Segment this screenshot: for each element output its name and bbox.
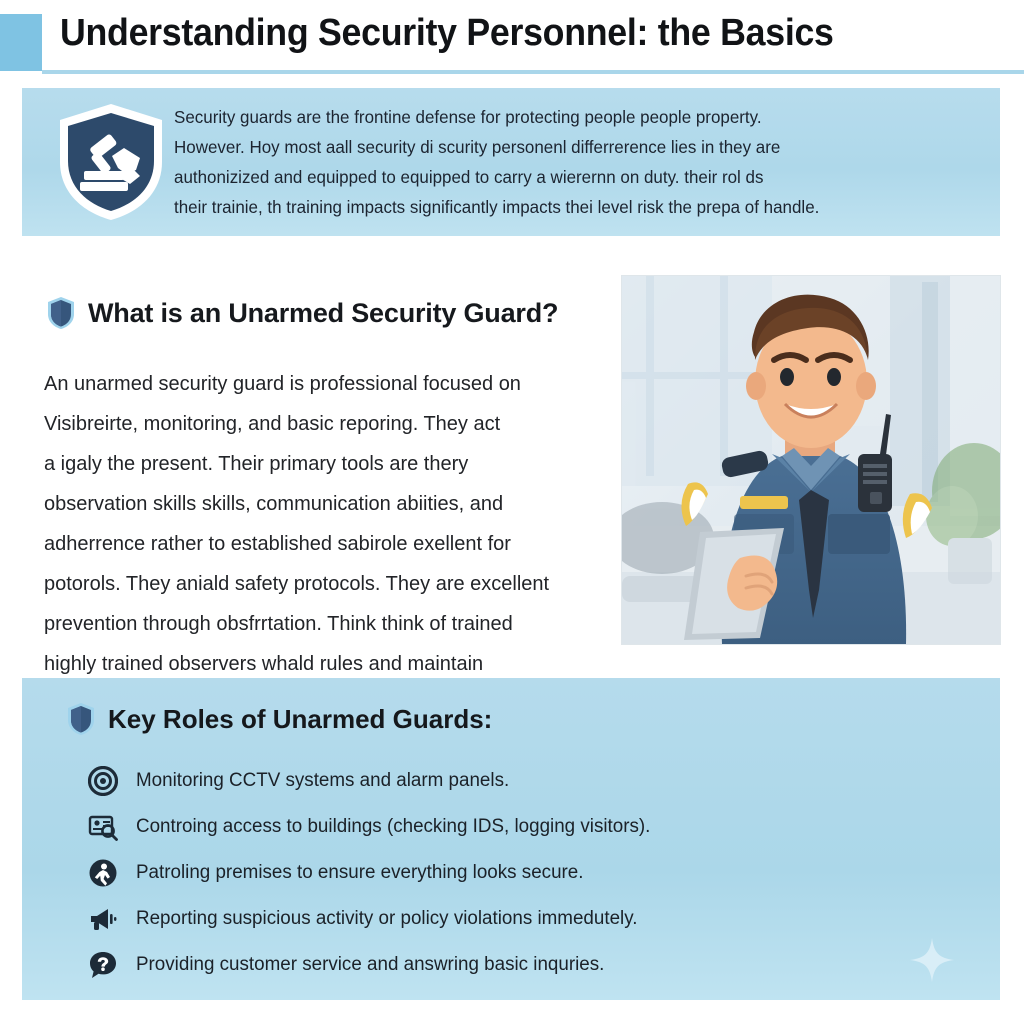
body-line: prevention through obsfrrtation. Think t… [44, 604, 609, 644]
list-item-label: Controing access to buildings (checking … [136, 816, 650, 838]
megaphone-icon [88, 904, 118, 934]
question-bubble-icon [88, 950, 118, 980]
list-item: Controing access to buildings (checking … [88, 804, 968, 850]
list-item: Providing customer service and answring … [88, 942, 968, 988]
key-roles-heading: Key Roles of Unarmed Guards: [66, 702, 492, 736]
list-item-label: Patroling premises to ensure everything … [136, 862, 583, 884]
list-item: Monitoring CCTV systems and alarm panels… [88, 758, 968, 804]
page-title: Understanding Security Personnel: the Ba… [60, 12, 834, 55]
key-roles-heading-label: Key Roles of Unarmed Guards: [108, 704, 492, 735]
intro-line: their trainie, th training impacts signi… [174, 192, 950, 222]
list-item: Reporting suspicious activity or policy … [88, 896, 968, 942]
intro-line: authonizized and equipped to equipped to… [174, 162, 950, 192]
walking-person-icon [88, 858, 118, 888]
shield-icon [46, 296, 76, 330]
header-accent-block [0, 14, 42, 71]
list-item-label: Monitoring CCTV systems and alarm panels… [136, 770, 509, 792]
key-roles-list: Monitoring CCTV systems and alarm panels… [88, 758, 968, 988]
section-body: An unarmed security guard is professiona… [44, 364, 609, 724]
intro-paragraph: Security guards are the frontine defense… [174, 102, 950, 222]
header-divider [42, 70, 1024, 74]
intro-line: However. Hoy most aall security di scuri… [174, 132, 950, 162]
list-item-label: Reporting suspicious activity or policy … [136, 908, 637, 930]
list-item-label: Providing customer service and answring … [136, 954, 604, 976]
intro-panel: Security guards are the frontine defense… [22, 88, 1000, 236]
shield-icon [66, 702, 96, 736]
id-card-search-icon [88, 812, 118, 842]
body-line: adherrence rather to established sabirol… [44, 524, 609, 564]
list-item: Patroling premises to ensure everything … [88, 850, 968, 896]
security-guard-photo [622, 276, 1000, 644]
body-line: potorols. They aniald safety protocols. … [44, 564, 609, 604]
body-line: observation skills skills, communication… [44, 484, 609, 524]
intro-line: Security guards are the frontine defense… [174, 102, 950, 132]
sparkle-icon [910, 938, 954, 982]
body-line: Visibreirte, monitoring, and basic repor… [44, 404, 609, 444]
shield-gavel-handshake-icon [50, 100, 172, 224]
section-heading: What is an Unarmed Security Guard? [46, 296, 558, 330]
page-header: Understanding Security Personnel: the Ba… [0, 0, 1024, 78]
cctv-target-icon [88, 766, 118, 796]
body-line: An unarmed security guard is professiona… [44, 364, 609, 404]
section-heading-label: What is an Unarmed Security Guard? [88, 298, 558, 329]
body-line: a igaly the present. Their primary tools… [44, 444, 609, 484]
key-roles-panel: Key Roles of Unarmed Guards: Monitoring … [22, 678, 1000, 1000]
